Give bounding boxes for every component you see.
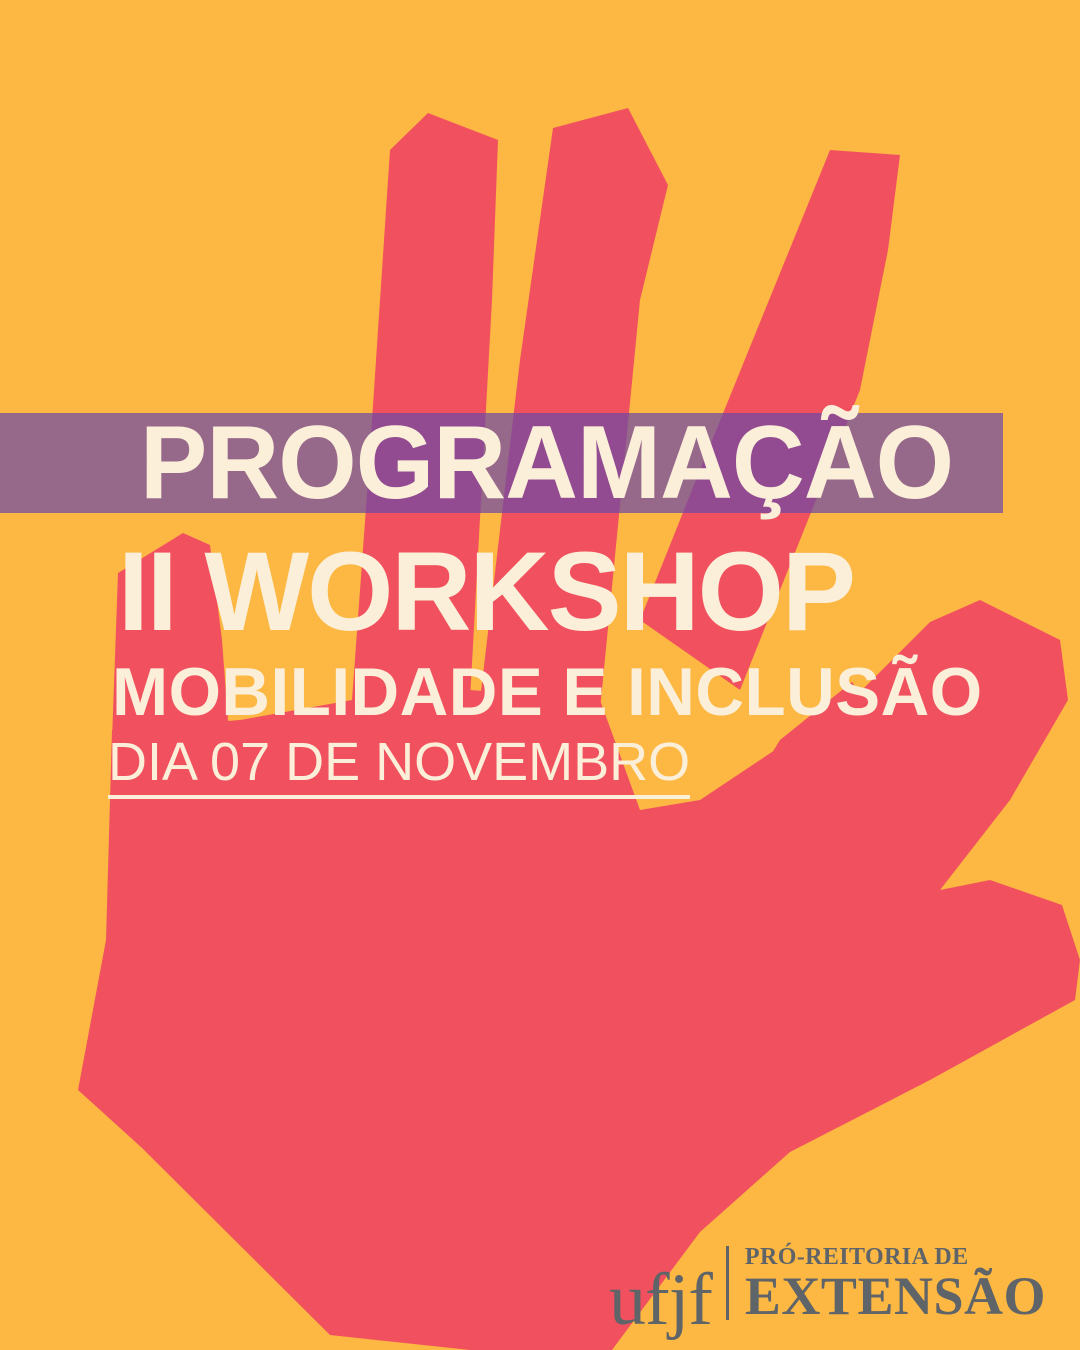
ufjf-wordmark: ufjf bbox=[609, 1272, 726, 1330]
ufjf-extensao-logo: ufjf PRÓ-REITORIA DE EXTENSÃO bbox=[609, 1245, 1046, 1324]
logo-text-group: PRÓ-REITORIA DE EXTENSÃO bbox=[745, 1245, 1046, 1324]
logo-line-extensao: EXTENSÃO bbox=[745, 1272, 1046, 1322]
event-subtitle: MOBILIDADE E INCLUSÃO bbox=[112, 660, 983, 724]
logo-divider bbox=[726, 1246, 729, 1320]
banner-title: PROGRAMAÇÃO bbox=[140, 415, 953, 511]
event-date-text: DIA 07 DE NOVEMBRO bbox=[108, 733, 690, 799]
event-title: II WORKSHOP bbox=[118, 540, 854, 644]
event-date: DIA 07 DE NOVEMBRO bbox=[108, 733, 690, 799]
poster-canvas: PROGRAMAÇÃO II WORKSHOP MOBILIDADE E INC… bbox=[0, 0, 1080, 1350]
